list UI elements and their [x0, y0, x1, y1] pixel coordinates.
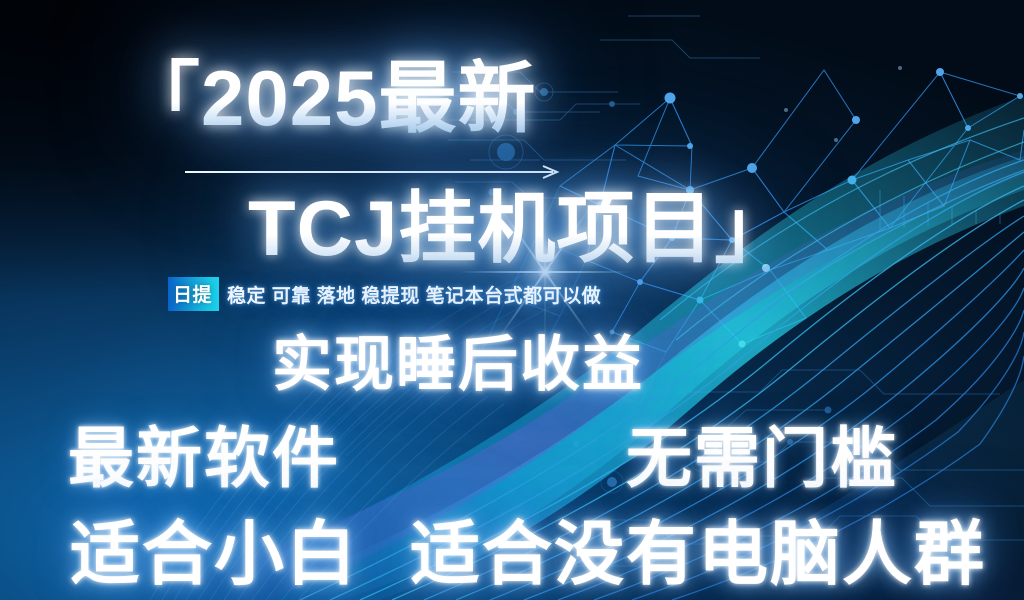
title-line-2: TCJ挂机项目」 — [248, 188, 793, 268]
subtitle-row: 日提 稳定 可靠 落地 稳提现 笔记本台式都可以做 — [168, 277, 601, 311]
audience-left: 适合小白 — [70, 518, 358, 590]
title-line-1: 「2025最新 — [122, 58, 537, 138]
feature-right: 无需门槛 — [626, 424, 898, 492]
promo-banner: 「2025最新 TCJ挂机项目」 日提 稳定 可靠 落地 稳提现 笔记本台式都可… — [0, 0, 1024, 600]
subtitle-highlight-tag: 日提 — [168, 277, 219, 311]
audience-right: 适合没有电脑人群 — [410, 518, 986, 590]
headline: 实现睡后收益 — [272, 334, 644, 396]
subtitle-text: 稳定 可靠 落地 稳提现 笔记本台式都可以做 — [219, 281, 601, 308]
feature-left: 最新软件 — [68, 424, 340, 492]
right-arrow-divider — [185, 165, 560, 179]
